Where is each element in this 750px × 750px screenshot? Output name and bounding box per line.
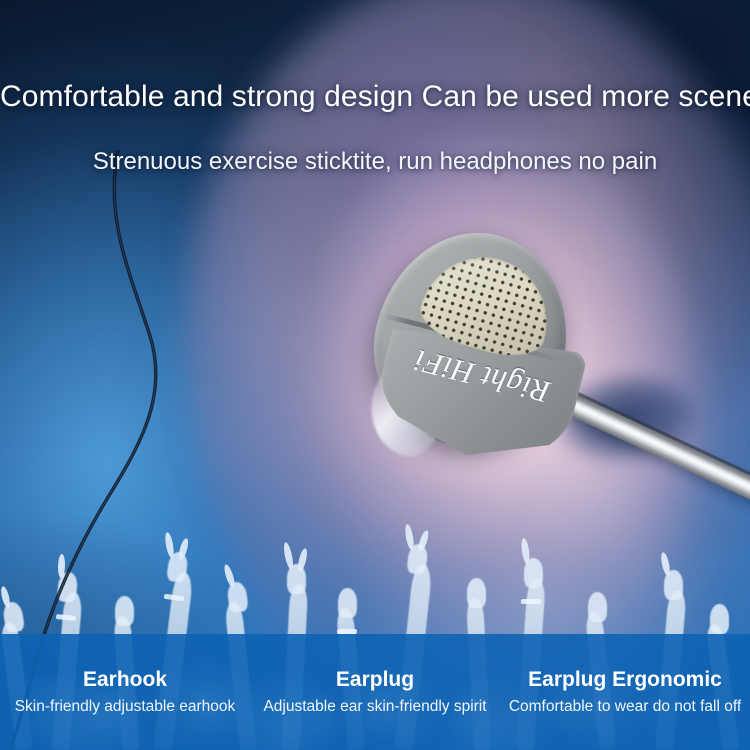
crowd-finger [404,524,415,551]
feature-description: Comfortable to wear do not fall off [504,698,746,717]
speaker-grille-mesh [414,242,562,366]
crowd-hand [166,551,189,583]
earhook-stem-shadow [524,368,750,497]
crowd-wristband [164,594,184,601]
feature-title: Earhook [4,667,246,692]
earbud-branding-facet [367,306,588,478]
crowd-finger [222,564,236,589]
crowd-finger [177,537,190,560]
feature-item-earhook: Earhook Skin-friendly adjustable earhook [0,667,250,717]
feature-columns: Earhook Skin-friendly adjustable earhook… [0,634,750,750]
earbud-product: Right HiFi [376,232,606,482]
feature-title: Earplug [254,667,496,692]
speaker-grille-holes [414,242,562,366]
crowd-hand [406,543,429,575]
feature-bar: Earhook Skin-friendly adjustable earhook… [0,634,750,750]
crowd-hand [664,570,683,600]
crowd-hand [287,564,306,594]
crowd-hand [710,604,729,634]
speaker-grille-shading [414,242,562,366]
crowd-finger [58,554,66,578]
earbud-housing [353,212,589,467]
feature-title: Earplug Ergonomic [504,667,746,692]
earbud-seam-line [384,314,566,364]
subheadline-text: Strenuous exercise sticktite, run headph… [0,148,750,176]
feature-description: Adjustable ear skin-friendly spirit [254,698,496,717]
ear-antihelix-shadow [228,0,605,487]
crowd-hand [56,571,78,603]
crowd-wristband [521,599,541,604]
feature-description: Skin-friendly adjustable earhook [4,698,246,717]
earbud-brand-engraving: Right HiFi [396,338,568,414]
crowd-finger [296,548,309,573]
ear-tragus-shadow [547,362,706,473]
earbud-chrome-rim [361,344,462,464]
crowd-wristband [56,614,76,621]
crowd-hand [588,592,607,622]
crowd-finger [164,532,175,559]
crowd-hand [338,588,357,618]
crowd-finger [282,542,295,571]
crowd-finger [520,538,531,565]
headline-text: Comfortable and strong design Can be use… [0,80,750,114]
crowd-hand [115,596,134,626]
feature-item-earplug: Earplug Adjustable ear skin-friendly spi… [250,667,500,717]
crowd-hand [2,601,25,634]
crowd-finger [660,552,672,577]
ear-concha-bowl [275,114,727,673]
earhook-stem [521,373,750,515]
crowd-hand [524,558,543,588]
crowd-finger [0,585,12,608]
crowd-hand [467,578,486,608]
crowd-finger [417,529,430,552]
crowd-hand [226,581,249,613]
product-banner: Right HiFi Comfortable and strong design… [0,0,750,750]
feature-item-earplug-ergonomic: Earplug Ergonomic Comfortable to wear do… [500,667,750,717]
